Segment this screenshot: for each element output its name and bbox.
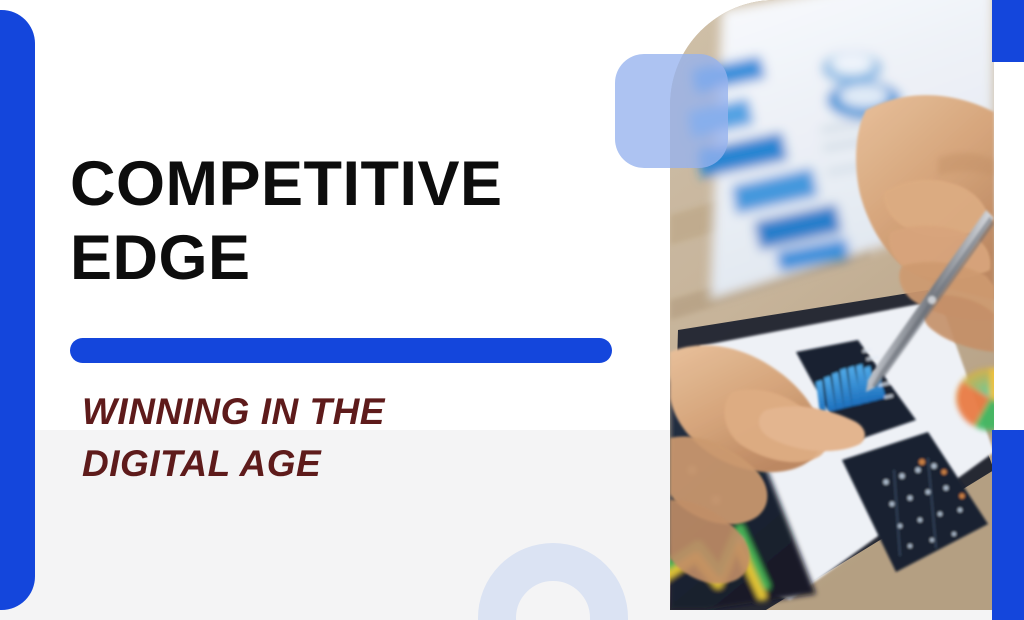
left-blue-bar [0,10,35,610]
poster-canvas: COMPETITIVE EDGE WINNING IN THE DIGITAL … [0,0,1024,620]
accent-divider-bar [70,338,612,363]
right-blue-block-top [992,0,1024,62]
page-title: COMPETITIVE EDGE [70,147,670,295]
page-subtitle: WINNING IN THE DIGITAL AGE [82,386,662,490]
right-blue-block-bottom [992,430,1024,620]
